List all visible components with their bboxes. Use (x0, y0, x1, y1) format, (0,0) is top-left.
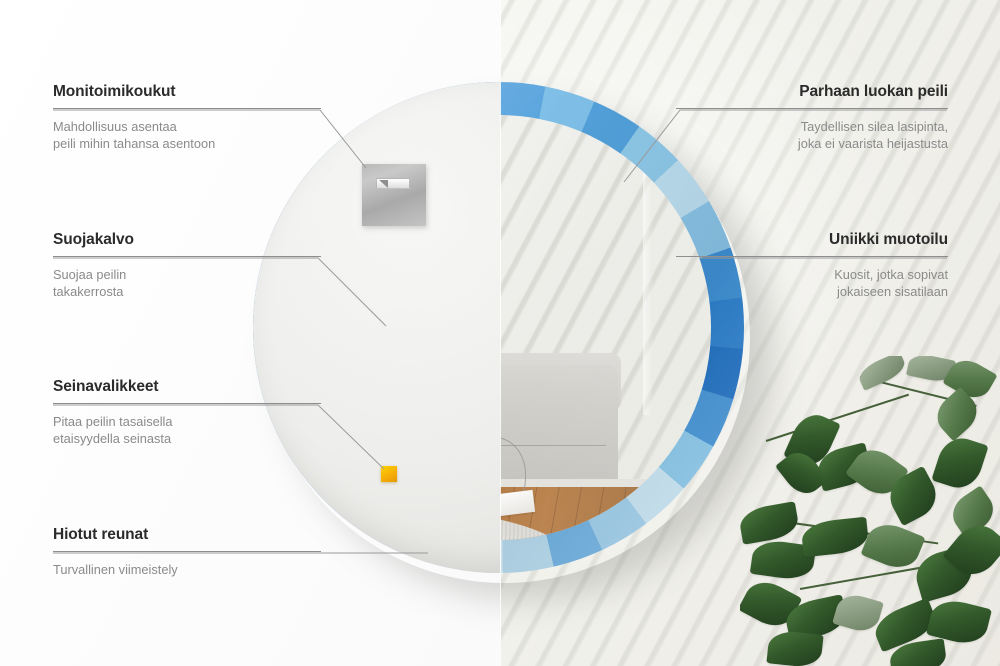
callout-multifunctional-hooks[interactable]: Monitoimikoukut Mahdollisuus asentaa pei… (53, 83, 321, 152)
callout-rule (676, 108, 948, 109)
reflected-wall-edge (643, 115, 653, 415)
callout-body: Suojaa peilin takakerrosta (53, 267, 321, 300)
hook-slot-icon (376, 178, 410, 189)
callout-protective-film[interactable]: Suojakalvo Suojaa peilin takakerrosta (53, 231, 321, 300)
callout-rule (53, 256, 321, 257)
mounting-hook-plate (362, 164, 426, 226)
callout-body: Turvallinen viimeistely (53, 562, 321, 579)
plant-stem (766, 394, 909, 442)
callout-title: Uniikki muotoilu (676, 231, 948, 249)
callout-body: Taydellisen silea lasipinta, joka ei vaa… (676, 119, 948, 152)
callout-title: Monitoimikoukut (53, 83, 321, 101)
mirror-product (253, 82, 744, 573)
callout-title: Seinavalikkeet (53, 378, 321, 396)
mirror-backing-disc (253, 82, 500, 573)
plant-leaf (766, 629, 823, 666)
callout-body: Kuosit, jotka sopivat jokaiseen sisatila… (676, 267, 948, 300)
callout-body: Mahdollisuus asentaa peili mihin tahansa… (53, 119, 321, 152)
callout-wall-spacers[interactable]: Seinavalikkeet Pitaa peilin tasaisella e… (53, 378, 321, 447)
callout-title: Suojakalvo (53, 231, 321, 249)
callout-rule (53, 403, 321, 404)
callout-polished-edges[interactable]: Hiotut reunat Turvallinen viimeistely (53, 526, 321, 579)
callout-unique-design[interactable]: Uniikki muotoilu Kuosit, jotka sopivat j… (676, 231, 948, 300)
plant-leaf (800, 517, 869, 558)
plant-leaf (931, 432, 988, 493)
callout-title: Parhaan luokan peili (676, 83, 948, 101)
before-after-split-line (500, 0, 501, 666)
callout-rule (53, 108, 321, 109)
callout-title: Hiotut reunat (53, 526, 321, 544)
plant-leaf (740, 501, 801, 545)
callout-rule (53, 551, 321, 552)
callout-body: Pitaa peilin tasaisella etaisyydella sei… (53, 414, 321, 447)
product-feature-infographic: Monitoimikoukut Mahdollisuus asentaa pei… (0, 0, 1000, 666)
plant-leaf (860, 517, 925, 574)
wall-spacer-marker (381, 466, 397, 482)
callout-best-class-mirror[interactable]: Parhaan luokan peili Taydellisen silea l… (676, 83, 948, 152)
callout-rule (676, 256, 948, 257)
decorative-foliage (740, 356, 1000, 666)
